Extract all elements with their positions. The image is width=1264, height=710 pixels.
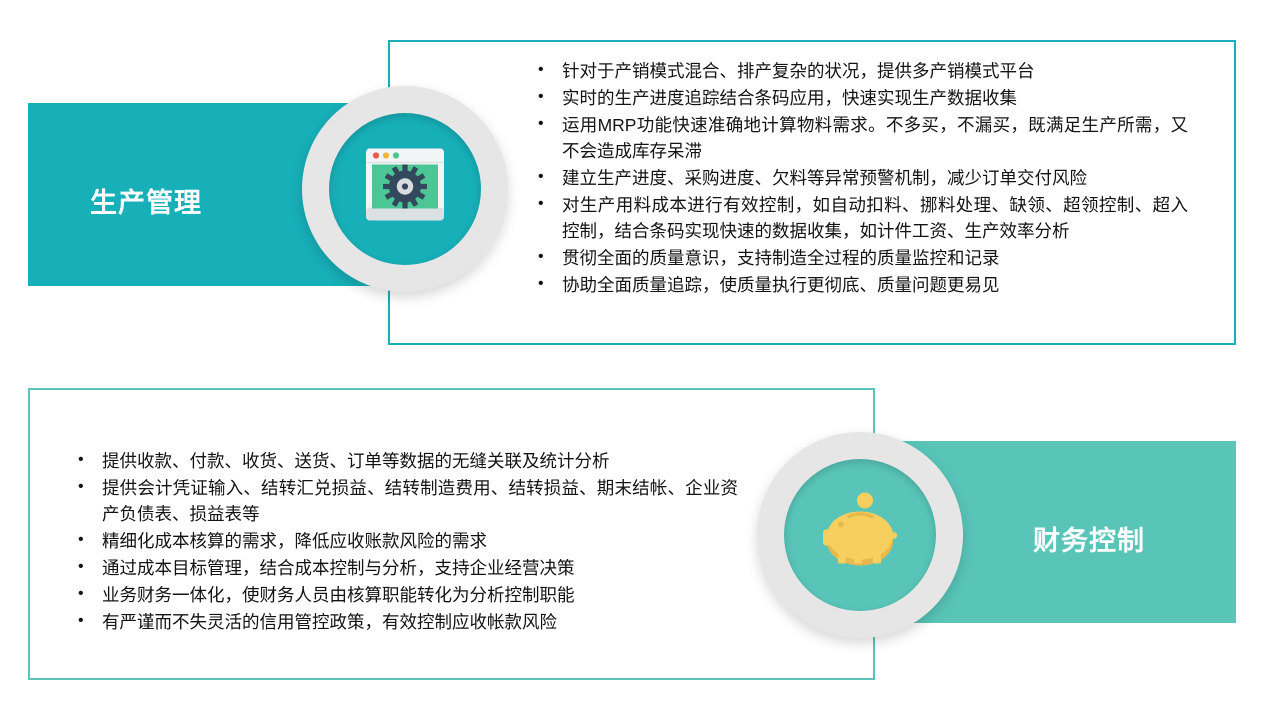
page-title: 财务控制 [1033,519,1145,558]
financial-control-bullet-list: 提供收款、付款、收货、送货、订单等数据的无缝关联及统计分析 提供会计凭证输入、结… [78,448,738,636]
list-item: 运用MRP功能快速准确地计算物料需求。不多买，不漏买，既满足生产所需，又不会造成… [538,112,1188,164]
production-management-bullet-list: 针对于产销模式混合、排产复杂的状况，提供多产销模式平台 实时的生产进度追踪结合条… [538,58,1188,299]
list-item: 提供收款、付款、收货、送货、订单等数据的无缝关联及统计分析 [78,448,738,474]
badge-core [329,113,481,265]
list-item: 实时的生产进度追踪结合条码应用，快速实现生产数据收集 [538,85,1188,111]
list-item: 贯彻全面的质量意识，支持制造全过程的质量监控和记录 [538,245,1188,271]
list-item: 业务财务一体化，使财务人员由核算职能转化为分析控制职能 [78,582,738,608]
slide-canvas: 针对于产销模式混合、排产复杂的状况，提供多产销模式平台 实时的生产进度追踪结合条… [0,0,1264,710]
financial-control-badge [757,432,963,638]
list-item: 建立生产进度、采购进度、欠料等异常预警机制，减少订单交付风险 [538,165,1188,191]
list-item: 精细化成本核算的需求，降低应收账款风险的需求 [78,528,738,554]
list-item: 协助全面质量追踪，使质量执行更彻底、质量问题更易见 [538,272,1188,298]
list-item: 提供会计凭证输入、结转汇兑损益、结转制造费用、结转损益、期末结帐、企业资产负债表… [78,475,738,527]
financial-control-textbox: 提供收款、付款、收货、送货、订单等数据的无缝关联及统计分析 提供会计凭证输入、结… [28,388,875,680]
production-management-badge [302,86,508,292]
browser-gear-icon [366,145,444,234]
list-item: 针对于产销模式混合、排产复杂的状况，提供多产销模式平台 [538,58,1188,84]
list-item: 对生产用料成本进行有效控制，如自动扣料、挪料处理、缺领、超领控制、超入控制，结合… [538,192,1188,244]
page-title: 生产管理 [90,181,202,220]
piggy-bank-icon [818,492,902,579]
list-item: 有严谨而不失灵活的信用管控政策，有效控制应收帐款风险 [78,609,738,635]
production-management-textbox: 针对于产销模式混合、排产复杂的状况，提供多产销模式平台 实时的生产进度追踪结合条… [388,40,1236,345]
list-item: 通过成本目标管理，结合成本控制与分析，支持企业经营决策 [78,555,738,581]
badge-core [784,459,936,611]
